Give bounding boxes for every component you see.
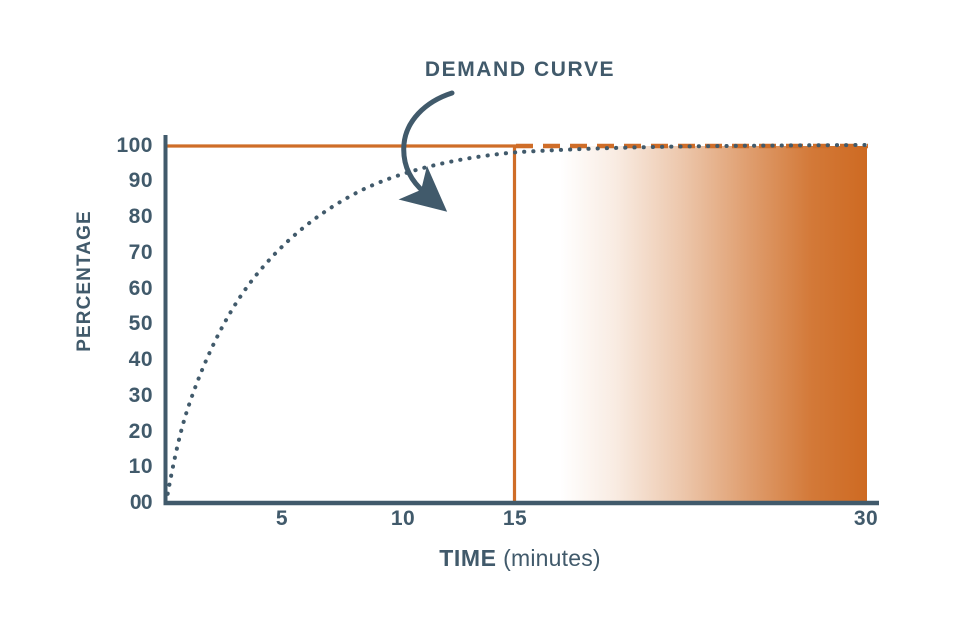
y-tick-label-30: 30 — [83, 384, 153, 408]
y-tick-label-70: 70 — [83, 241, 153, 265]
x-tick-label-10: 10 — [373, 507, 433, 531]
x-axis-title-light: (minutes) — [497, 545, 601, 571]
y-tick-label-10: 10 — [83, 455, 153, 479]
y-tick-label-50: 50 — [83, 312, 153, 336]
y-tick-label-40: 40 — [83, 348, 153, 372]
y-tick-label-90: 90 — [83, 169, 153, 193]
x-tick-label-15: 15 — [485, 507, 545, 531]
y-tick-label-60: 60 — [83, 277, 153, 301]
demand-curve-chart: DEMAND CURVE PERCENTAGE TIME (minutes) 1… — [0, 0, 965, 617]
saturation-zone-fill — [560, 146, 867, 503]
y-tick-label-20: 20 — [83, 420, 153, 444]
x-axis-title-bold: TIME — [439, 545, 496, 571]
x-tick-label-5: 5 — [252, 507, 312, 531]
x-axis-title: TIME (minutes) — [325, 545, 715, 572]
chart-annotation-title: DEMAND CURVE — [330, 58, 710, 82]
y-tick-label-80: 80 — [83, 205, 153, 229]
chart-canvas — [0, 0, 965, 617]
y-tick-label-100: 100 — [83, 134, 153, 158]
x-tick-label-0: 0 — [106, 491, 166, 515]
annotation-arrow — [404, 93, 452, 193]
x-tick-label-30: 30 — [836, 507, 896, 531]
